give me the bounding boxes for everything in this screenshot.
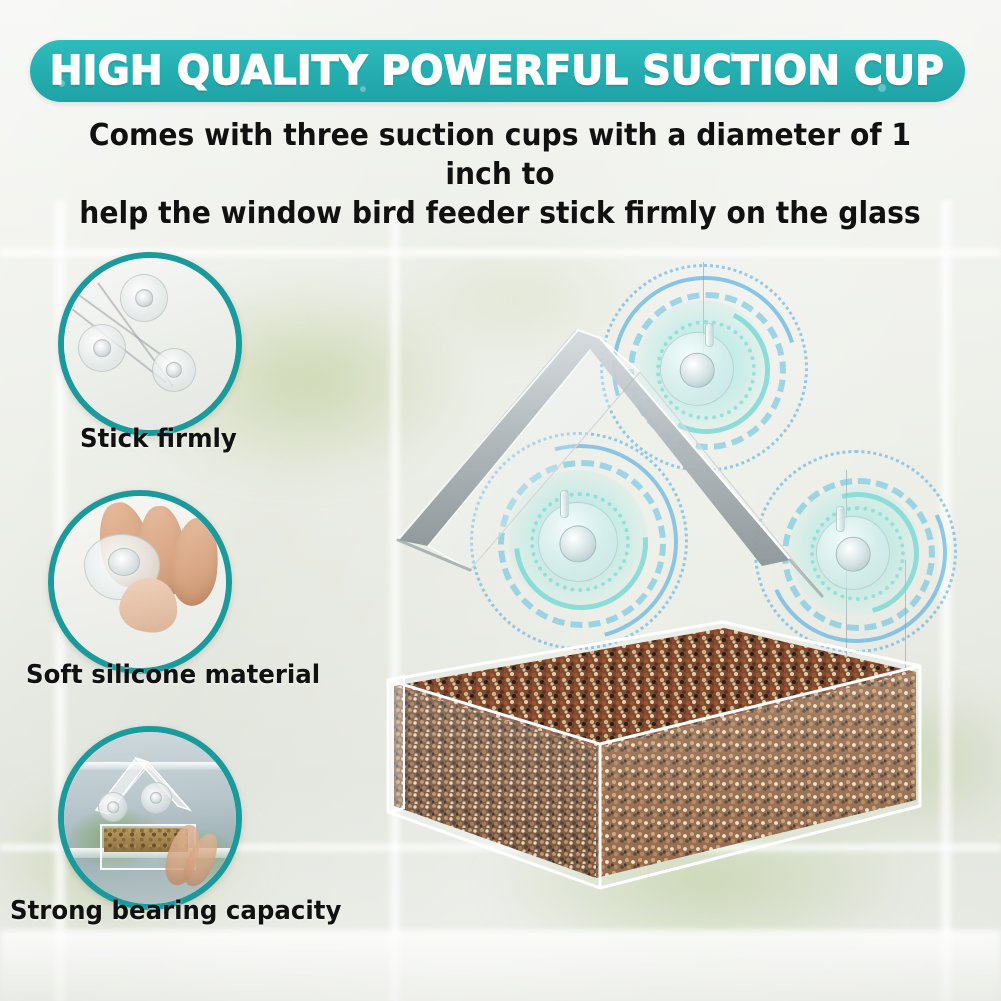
feature-label-stick-firmly: Stick firmly: [80, 424, 237, 454]
feature-label-soft-silicone: Soft silicone material: [26, 660, 320, 690]
banner-title: HIGH QUALITY POWERFUL SUCTION CUP: [50, 48, 944, 94]
suction-cup-icon: [98, 792, 128, 822]
feature-label-strong-bearing: Strong bearing capacity: [10, 896, 341, 926]
suction-cup-icon: [120, 274, 168, 322]
suction-cup-icon: [78, 324, 126, 372]
subtitle-block: Comes with three suction cups with a dia…: [77, 116, 923, 233]
mini-feeder-roof: [64, 732, 236, 904]
subtitle-line-2: help the window bird feeder stick firmly…: [77, 194, 923, 233]
feature-image-stick-firmly: [58, 252, 242, 436]
subtitle-line-1: Comes with three suction cups with a dia…: [77, 116, 923, 194]
feature-image-soft-silicone: [48, 490, 232, 674]
infographic-canvas: HIGH QUALITY POWERFUL SUCTION CUP Comes …: [0, 0, 1001, 1001]
suction-cup-hub: [108, 548, 140, 576]
suction-cup-icon: [140, 782, 172, 814]
header-banner: HIGH QUALITY POWERFUL SUCTION CUP: [30, 40, 965, 102]
feature-image-strong-bearing: [58, 726, 242, 910]
suction-cup-icon: [152, 348, 196, 392]
